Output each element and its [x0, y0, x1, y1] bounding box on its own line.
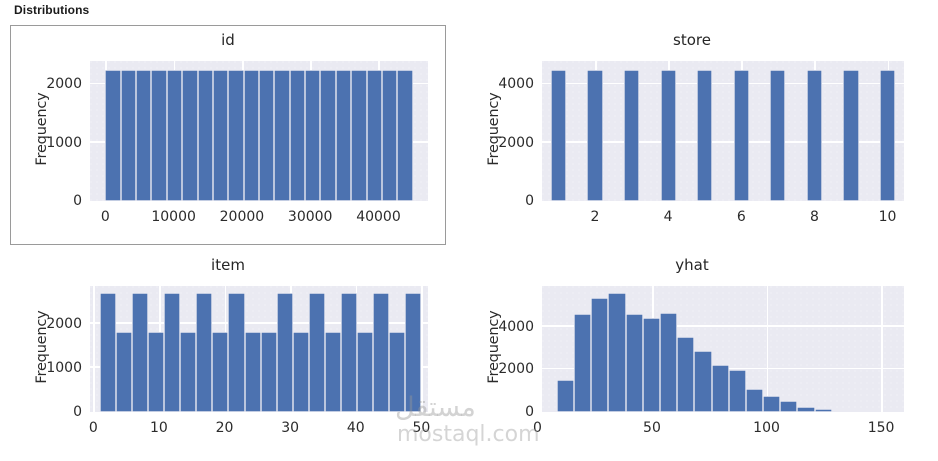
histogram-bar: [167, 70, 182, 201]
histogram-bar: [608, 293, 625, 412]
x-tick-label: 40: [347, 420, 365, 436]
histogram-bar: [274, 70, 289, 201]
distributions-figure: Distributions id010002000010000200003000…: [0, 0, 938, 461]
histogram-bar: [261, 332, 277, 412]
histogram-bar: [244, 70, 259, 201]
histogram-bar: [182, 70, 197, 201]
x-tick-label: 10: [150, 420, 168, 436]
plot-area-store: [542, 61, 904, 201]
histogram-bar: [116, 332, 132, 412]
x-tick-label: 0: [89, 420, 98, 436]
x-tick-label: 2: [591, 209, 600, 225]
x-tick-label: 150: [868, 420, 895, 436]
histogram-bar: [320, 70, 335, 201]
x-tick-label: 6: [737, 209, 746, 225]
histogram-bar: [591, 298, 608, 412]
x-tick-label: 0: [101, 209, 110, 225]
x-tick-label: 30: [281, 420, 299, 436]
x-tick-label: 40000: [356, 209, 401, 225]
chart-panel-store[interactable]: store020004000246810Frequency: [462, 25, 922, 247]
x-tick-label: 50: [413, 420, 431, 436]
histogram-bar: [180, 332, 196, 412]
y-tick-label: 0: [10, 193, 82, 209]
chart-panel-id[interactable]: id010002000010000200003000040000Frequenc…: [10, 25, 446, 247]
plot-area-yhat: [542, 286, 904, 412]
x-tick-label: 0: [533, 420, 542, 436]
histogram-bar: [277, 293, 293, 412]
gridline-vertical: [881, 286, 883, 412]
histogram-bar: [626, 314, 643, 412]
y-axis-label-item: Frequency: [34, 287, 50, 407]
histogram-bar: [132, 293, 148, 412]
chart-title-yhat: yhat: [462, 256, 922, 274]
chart-panel-yhat[interactable]: yhat020004000050100150Frequency: [462, 250, 922, 458]
histogram-bar: [228, 293, 244, 412]
histogram-bar: [293, 332, 309, 412]
histogram-bar: [557, 380, 574, 412]
y-axis-label-yhat: Frequency: [486, 287, 502, 407]
histogram-bar: [734, 70, 749, 201]
histogram-bar: [259, 70, 274, 201]
x-tick-label: 20000: [220, 209, 265, 225]
x-tick-label: 10000: [151, 209, 196, 225]
histogram-bar: [770, 70, 785, 201]
histogram-bar: [551, 70, 566, 201]
histogram-bar: [729, 370, 746, 412]
histogram-bar: [245, 332, 261, 412]
plot-area-id: [90, 61, 428, 201]
histogram-bar: [712, 365, 729, 412]
histogram-bar: [746, 389, 763, 412]
histogram-bar: [643, 318, 660, 412]
histogram-bar: [660, 313, 677, 412]
histogram-bar: [843, 70, 858, 201]
histogram-bar: [797, 407, 814, 412]
x-tick-label: 50: [643, 420, 661, 436]
histogram-bar: [121, 70, 136, 201]
histogram-bar: [373, 293, 389, 412]
histogram-bar: [290, 70, 305, 201]
histogram-bar: [694, 351, 711, 412]
histogram-bar: [325, 332, 341, 412]
x-tick-label: 8: [810, 209, 819, 225]
histogram-bar: [341, 293, 357, 412]
y-axis-label-id: Frequency: [34, 69, 50, 189]
histogram-bar: [880, 70, 895, 201]
chart-title-store: store: [462, 31, 922, 49]
x-tick-label: 4: [664, 209, 673, 225]
histogram-bar: [624, 70, 639, 201]
histogram-bar: [574, 314, 591, 412]
histogram-bar: [336, 70, 351, 201]
y-axis-label-store: Frequency: [486, 69, 502, 189]
gridline-vertical: [421, 286, 423, 412]
histogram-bar: [697, 70, 712, 201]
histogram-bar: [763, 396, 780, 412]
histogram-bar: [367, 70, 382, 201]
y-tick-label: 0: [462, 193, 534, 209]
histogram-bar: [105, 70, 120, 201]
histogram-bar: [832, 411, 849, 412]
histogram-bar: [305, 70, 320, 201]
histogram-bar: [100, 293, 116, 412]
x-tick-label: 30000: [288, 209, 333, 225]
gridline-vertical: [93, 286, 95, 412]
histogram-bar: [382, 70, 397, 201]
histogram-bar: [228, 70, 243, 201]
chart-panel-item[interactable]: item01000200001020304050Frequency: [10, 250, 446, 458]
histogram-bar: [309, 293, 325, 412]
histogram-bar: [196, 293, 212, 412]
histogram-bar: [661, 70, 676, 201]
histogram-bar: [405, 293, 421, 412]
x-tick-label: 100: [753, 420, 780, 436]
histogram-bar: [136, 70, 151, 201]
histogram-bar: [357, 332, 373, 412]
histogram-bar: [351, 70, 366, 201]
histogram-bar: [587, 70, 602, 201]
histogram-bar: [213, 70, 228, 201]
histogram-bar: [212, 332, 228, 412]
histogram-bar: [198, 70, 213, 201]
histogram-bar: [151, 70, 166, 201]
histogram-bar: [397, 70, 412, 201]
histogram-bar: [164, 293, 180, 412]
plot-area-item: [90, 286, 428, 412]
histogram-bar: [389, 332, 405, 412]
page-title: Distributions: [14, 3, 89, 17]
x-tick-label: 20: [216, 420, 234, 436]
histogram-bar: [815, 409, 832, 412]
gridline-vertical: [767, 286, 769, 412]
histogram-bar: [780, 401, 797, 412]
x-tick-label: 10: [879, 209, 897, 225]
histogram-bar: [148, 332, 164, 412]
chart-title-item: item: [10, 256, 446, 274]
chart-title-id: id: [10, 31, 446, 49]
histogram-bar: [677, 337, 694, 412]
histogram-bar: [807, 70, 822, 201]
